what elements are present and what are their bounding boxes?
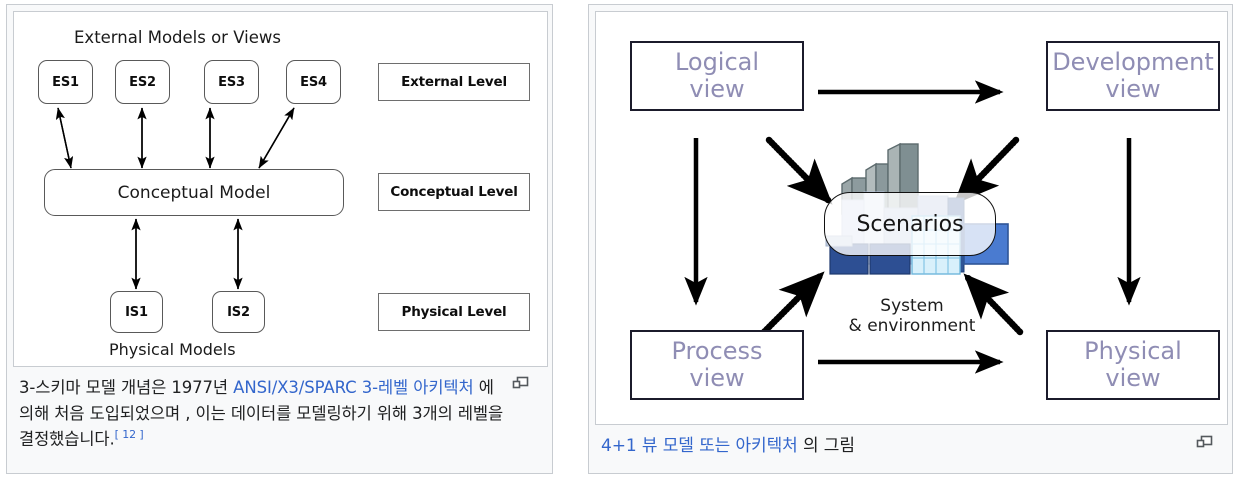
logical-view-line1: Logical bbox=[675, 49, 759, 76]
right-caption-text: 의 그림 bbox=[798, 436, 855, 456]
process-view-line1: Process bbox=[671, 338, 762, 365]
right-figure-caption: 4+1 뷰 모델 또는 아키텍처 의 그림 bbox=[597, 429, 1225, 469]
left-figure-image-area[interactable]: External Models or Views ES1 ES2 ES3 ES4… bbox=[13, 11, 548, 367]
system-label-line1: System bbox=[834, 296, 990, 316]
physical-view-box: Physical view bbox=[1046, 330, 1220, 400]
caption-link-4plus1[interactable]: 4+1 뷰 모델 또는 아키텍처 bbox=[601, 436, 798, 456]
caption-reference-12[interactable]: [ 12 ] bbox=[115, 428, 144, 441]
process-view-line2: view bbox=[689, 365, 744, 392]
physical-view-line1: Physical bbox=[1084, 338, 1182, 365]
left-figure-caption: 3-스키마 모델 개념은 1977년 ANSI/X3/SPARC 3-레벨 아키… bbox=[15, 371, 545, 469]
logical-view-box: Logical view bbox=[630, 41, 804, 111]
caption-link-ansi[interactable]: ANSI/X3/SPARC 3-레벨 아키텍처 bbox=[233, 378, 473, 397]
system-label-line2: & environment bbox=[834, 316, 990, 336]
enlarge-icon[interactable] bbox=[513, 377, 528, 388]
development-view-box: Development view bbox=[1046, 41, 1220, 111]
right-figure-image-area[interactable]: Scenarios System & environment Logical v… bbox=[595, 11, 1228, 425]
three-schema-arrows bbox=[14, 12, 548, 367]
enlarge-icon[interactable] bbox=[1197, 436, 1212, 447]
four-plus-one-diagram: Scenarios System & environment Logical v… bbox=[596, 12, 1227, 424]
three-schema-diagram: External Models or Views ES1 ES2 ES3 ES4… bbox=[14, 12, 547, 366]
physical-view-line2: view bbox=[1105, 365, 1160, 392]
scenarios-box: Scenarios bbox=[824, 192, 996, 256]
process-view-box: Process view bbox=[630, 330, 804, 400]
caption-text-1: 3-스키마 모델 개념은 1977년 bbox=[19, 378, 233, 397]
left-figure-thumbnail: External Models or Views ES1 ES2 ES3 ES4… bbox=[6, 4, 553, 474]
logical-view-line2: view bbox=[689, 76, 744, 103]
development-view-line2: view bbox=[1105, 76, 1160, 103]
right-figure-thumbnail: Scenarios System & environment Logical v… bbox=[588, 4, 1233, 474]
development-view-line1: Development bbox=[1052, 49, 1214, 76]
screenshot-root: External Models or Views ES1 ES2 ES3 ES4… bbox=[0, 0, 1238, 490]
system-environment-label: System & environment bbox=[834, 296, 990, 336]
